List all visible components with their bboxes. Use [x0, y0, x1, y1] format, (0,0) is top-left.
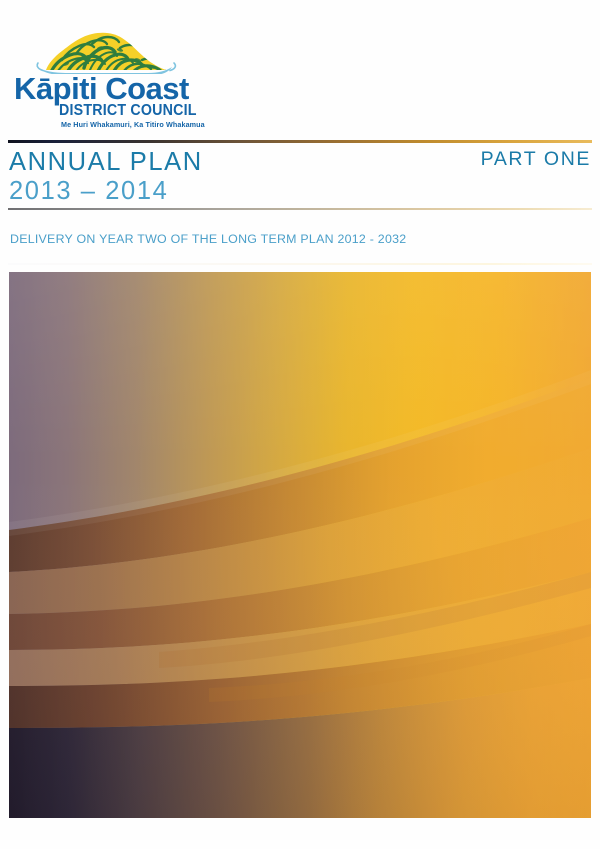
- abstract-sunset-bands-artwork: [9, 272, 591, 818]
- page-title: ANNUAL PLAN: [9, 148, 203, 177]
- part-label: PART ONE: [481, 148, 591, 170]
- gradient-rule-light: [8, 208, 592, 210]
- logo-tagline: Me Huri Whakamuri, Ka Titiro Whakamua: [61, 120, 205, 129]
- council-logo: Kāpiti Coast DISTRICT COUNCIL Me Huri Wh…: [14, 30, 244, 128]
- cover-page: Kāpiti Coast DISTRICT COUNCIL Me Huri Wh…: [0, 0, 600, 849]
- gradient-rule-faint: [8, 263, 592, 265]
- page-title-years: 2013 – 2014: [9, 177, 168, 206]
- logo-wordmark: Kāpiti Coast: [14, 72, 214, 105]
- kapiti-island-koru-icon: [32, 30, 180, 74]
- gradient-rule-dark: [8, 140, 592, 143]
- page-subtitle: DELIVERY ON YEAR TWO OF THE LONG TERM PL…: [10, 232, 406, 247]
- logo-subtitle: DISTRICT COUNCIL: [59, 103, 197, 119]
